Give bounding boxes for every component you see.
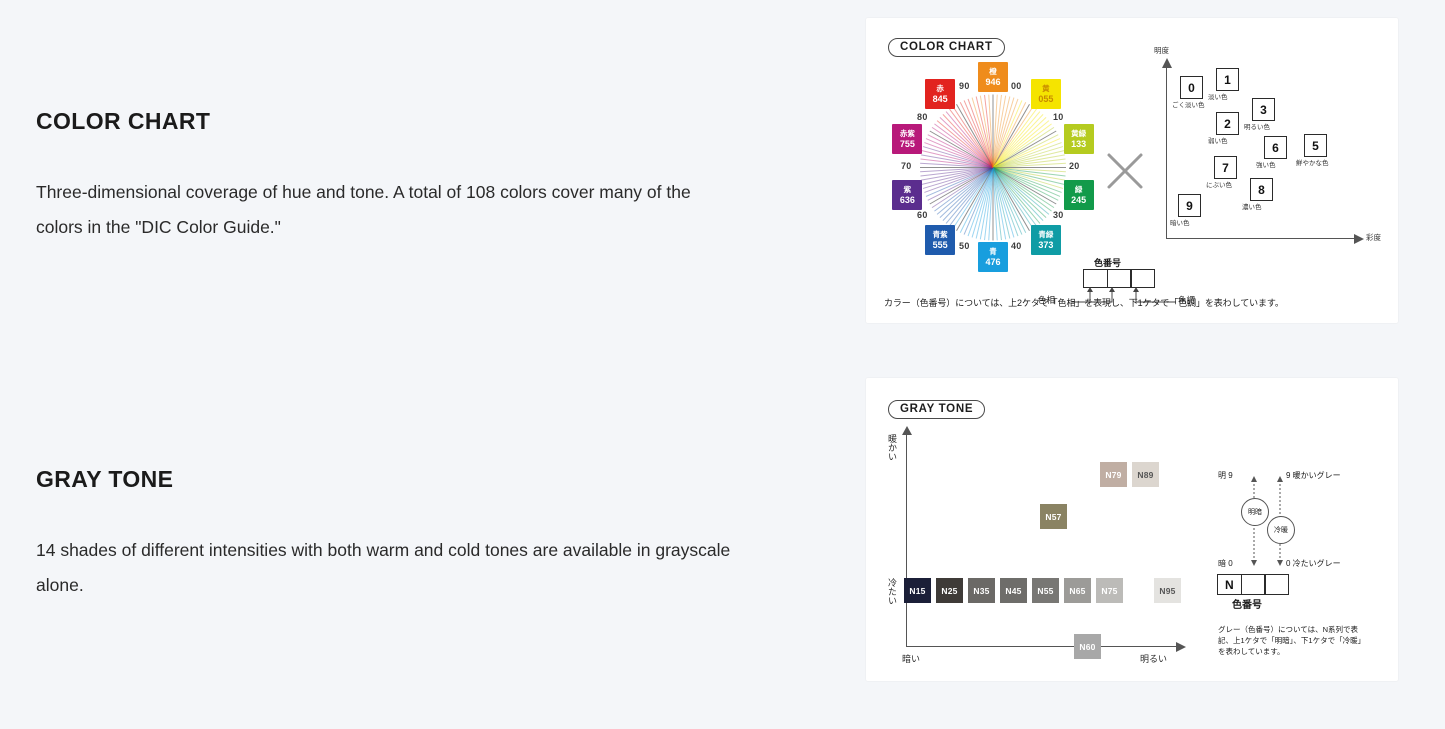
wheel-swatch-373[interactable]: 青緑373	[1031, 225, 1061, 255]
page-title-color-chart: COLOR CHART	[36, 108, 736, 135]
tone-x-axis	[1166, 238, 1356, 239]
wheel-swatch-946[interactable]: 橙946	[978, 62, 1008, 92]
text-column: COLOR CHART Three-dimensional coverage o…	[36, 0, 796, 729]
wheel-swatch-845[interactable]: 赤845	[925, 79, 955, 109]
gray-swatch-N79[interactable]: N79	[1100, 462, 1127, 487]
gray-code-cells: N	[1218, 574, 1289, 595]
swatch-name: 青紫	[933, 230, 948, 240]
multiply-icon	[1102, 148, 1148, 194]
gray-y-arrow-icon	[901, 426, 913, 437]
wheel-swatch-476[interactable]: 青476	[978, 242, 1008, 272]
gray-swatch-N75[interactable]: N75	[1096, 578, 1123, 603]
swatch-number: 055	[1038, 94, 1053, 104]
wheel-swatch-133[interactable]: 黄緑133	[1064, 124, 1094, 154]
wheel-swatch-755[interactable]: 赤紫755	[892, 124, 922, 154]
description-gray-tone: 14 shades of different intensities with …	[36, 533, 736, 603]
swatch-number: 946	[985, 77, 1000, 87]
tone-caption-8: 濃い色	[1242, 201, 1262, 211]
wheel-degree-80: 80	[917, 112, 928, 122]
gray-code-cell	[1241, 574, 1266, 595]
tone-y-axis-label: 明度	[1154, 45, 1169, 56]
tone-caption-9: 暗い色	[1170, 217, 1190, 227]
legend-label-warm-gray: 9 暖かいグレー	[1286, 470, 1341, 481]
page-title-gray-tone: GRAY TONE	[36, 466, 736, 493]
tone-caption-0: ごく淡い色	[1172, 99, 1205, 109]
wheel-degree-40: 40	[1011, 241, 1022, 251]
wheel-swatch-245[interactable]: 緑245	[1064, 180, 1094, 210]
swatch-number: 373	[1038, 240, 1053, 250]
tone-box-5[interactable]: 5	[1304, 134, 1327, 157]
gray-code-title: 色番号	[1232, 596, 1262, 611]
gray-code-cell-n: N	[1217, 574, 1242, 595]
swatch-number: 555	[933, 240, 948, 250]
page-root: COLOR CHART Three-dimensional coverage o…	[0, 0, 1445, 729]
gray-y-axis	[906, 434, 907, 646]
swatch-name: 青緑	[1038, 230, 1053, 240]
swatch-name: 橙	[989, 67, 997, 77]
swatch-number: 636	[900, 195, 915, 205]
legend-bubble-warmth: 冷暖	[1267, 516, 1295, 544]
wheel-degree-10: 10	[1053, 112, 1064, 122]
tone-caption-5: 鮮やかな色	[1296, 157, 1329, 167]
gray-tone-chart: 暖かい 冷たい 暗い 明るい N15N25N35N45N55N65N75N95N…	[888, 426, 1188, 656]
gray-axis-label-dark: 暗い	[902, 652, 920, 665]
color-chart-caption: カラー（色番号）については、上2ケタで「色相」を表現し、下1ケタで「色調」を表わ…	[884, 296, 1388, 309]
gray-axis-label-cold: 冷たい	[886, 578, 899, 605]
gray-tone-panel: GRAY TONE 暖かい 冷たい 暗い 明るい N15N25N35N45N55…	[866, 378, 1398, 681]
gray-swatch-N25[interactable]: N25	[936, 578, 963, 603]
wheel-degree-70: 70	[901, 161, 912, 171]
gray-swatch-N15[interactable]: N15	[904, 578, 931, 603]
color-code-title: 色番号	[1094, 256, 1121, 269]
legend-arrow-lines	[1218, 470, 1383, 590]
swatch-name: 赤紫	[900, 129, 915, 139]
wheel-degree-30: 30	[1053, 210, 1064, 220]
tone-x-axis-label: 彩度	[1366, 232, 1381, 243]
gray-axis-label-bright: 明るい	[1140, 652, 1167, 665]
section-color-chart: COLOR CHART Three-dimensional coverage o…	[36, 108, 736, 245]
gray-swatch-N95[interactable]: N95	[1154, 578, 1181, 603]
tone-caption-7: にぶい色	[1206, 179, 1232, 189]
tone-box-0[interactable]: 0	[1180, 76, 1203, 99]
gray-swatch-N89[interactable]: N89	[1132, 462, 1159, 487]
wheel-spokes	[919, 93, 1067, 241]
gray-tone-legend: 明 9 9 暖かいグレー 暗 0 0 冷たいグレー 明暗 冷暖 N 色番号 グレ…	[1218, 470, 1383, 645]
gray-code-cell	[1264, 574, 1289, 595]
tone-caption-6: 強い色	[1256, 159, 1276, 169]
swatch-number: 476	[985, 257, 1000, 267]
swatch-name: 黄	[1042, 84, 1050, 94]
color-chart-panel: COLOR CHART 橙946黄055黄緑133緑245青緑373青476青紫…	[866, 18, 1398, 323]
wheel-degree-60: 60	[917, 210, 928, 220]
swatch-number: 845	[933, 94, 948, 104]
tone-box-2[interactable]: 2	[1216, 112, 1239, 135]
swatch-name: 黄緑	[1071, 129, 1086, 139]
swatch-number: 245	[1071, 195, 1086, 205]
color-wheel: 橙946黄055黄緑133緑245青緑373青476青紫555紫636赤紫755…	[888, 62, 1098, 272]
swatch-name: 青	[989, 247, 997, 257]
tone-box-8[interactable]: 8	[1250, 178, 1273, 201]
gray-swatch-N45[interactable]: N45	[1000, 578, 1027, 603]
tone-box-1[interactable]: 1	[1216, 68, 1239, 91]
gray-swatch-N35[interactable]: N35	[968, 578, 995, 603]
tone-box-9[interactable]: 9	[1178, 194, 1201, 217]
swatch-name: 紫	[904, 185, 912, 195]
tone-box-3[interactable]: 3	[1252, 98, 1275, 121]
tone-grid: 明度 彩度 0ごく淡い色1淡い色3明るい色2弱い色6強い色5鮮やかな色7にぶい色…	[1148, 56, 1380, 256]
gray-tone-note: グレー（色番号）については、N系列で表記、上1ケタで「明暗」、下1ケタで「冷暖」…	[1218, 624, 1368, 657]
gray-axis-label-warm: 暖かい	[886, 434, 899, 461]
wheel-degree-00: 00	[1011, 81, 1022, 91]
wheel-swatch-555[interactable]: 青紫555	[925, 225, 955, 255]
badge-gray-tone: GRAY TONE	[888, 400, 985, 419]
gray-swatch-N65[interactable]: N65	[1064, 578, 1091, 603]
wheel-degree-90: 90	[959, 81, 970, 91]
wheel-swatch-636[interactable]: 紫636	[892, 180, 922, 210]
legend-bubble-brightness: 明暗	[1241, 498, 1269, 526]
badge-color-chart: COLOR CHART	[888, 38, 1005, 57]
tone-y-arrow-icon	[1161, 58, 1173, 70]
swatch-number: 133	[1071, 139, 1086, 149]
gray-x-arrow-icon	[1174, 641, 1186, 653]
tone-caption-2: 弱い色	[1208, 135, 1228, 145]
tone-box-7[interactable]: 7	[1214, 156, 1237, 179]
swatch-number: 755	[900, 139, 915, 149]
legend-label-cold-gray: 0 冷たいグレー	[1286, 558, 1341, 569]
tone-caption-1: 淡い色	[1208, 91, 1228, 101]
swatch-name: 赤	[936, 84, 944, 94]
gray-x-axis	[906, 646, 1178, 647]
tone-box-6[interactable]: 6	[1264, 136, 1287, 159]
gray-swatch-N55[interactable]: N55	[1032, 578, 1059, 603]
section-gray-tone: GRAY TONE 14 shades of different intensi…	[36, 466, 736, 603]
tone-y-axis	[1166, 66, 1167, 238]
legend-label-bright9: 明 9	[1218, 470, 1233, 481]
gray-swatch-N60[interactable]: N60	[1074, 634, 1101, 659]
legend-label-dark0: 暗 0	[1218, 558, 1233, 569]
description-color-chart: Three-dimensional coverage of hue and to…	[36, 175, 736, 245]
gray-swatch-N57[interactable]: N57	[1040, 504, 1067, 529]
wheel-swatch-055[interactable]: 黄055	[1031, 79, 1061, 109]
tone-caption-3: 明るい色	[1244, 121, 1270, 131]
swatch-name: 緑	[1075, 185, 1083, 195]
wheel-degree-50: 50	[959, 241, 970, 251]
tone-x-arrow-icon	[1352, 233, 1364, 245]
wheel-degree-20: 20	[1069, 161, 1080, 171]
